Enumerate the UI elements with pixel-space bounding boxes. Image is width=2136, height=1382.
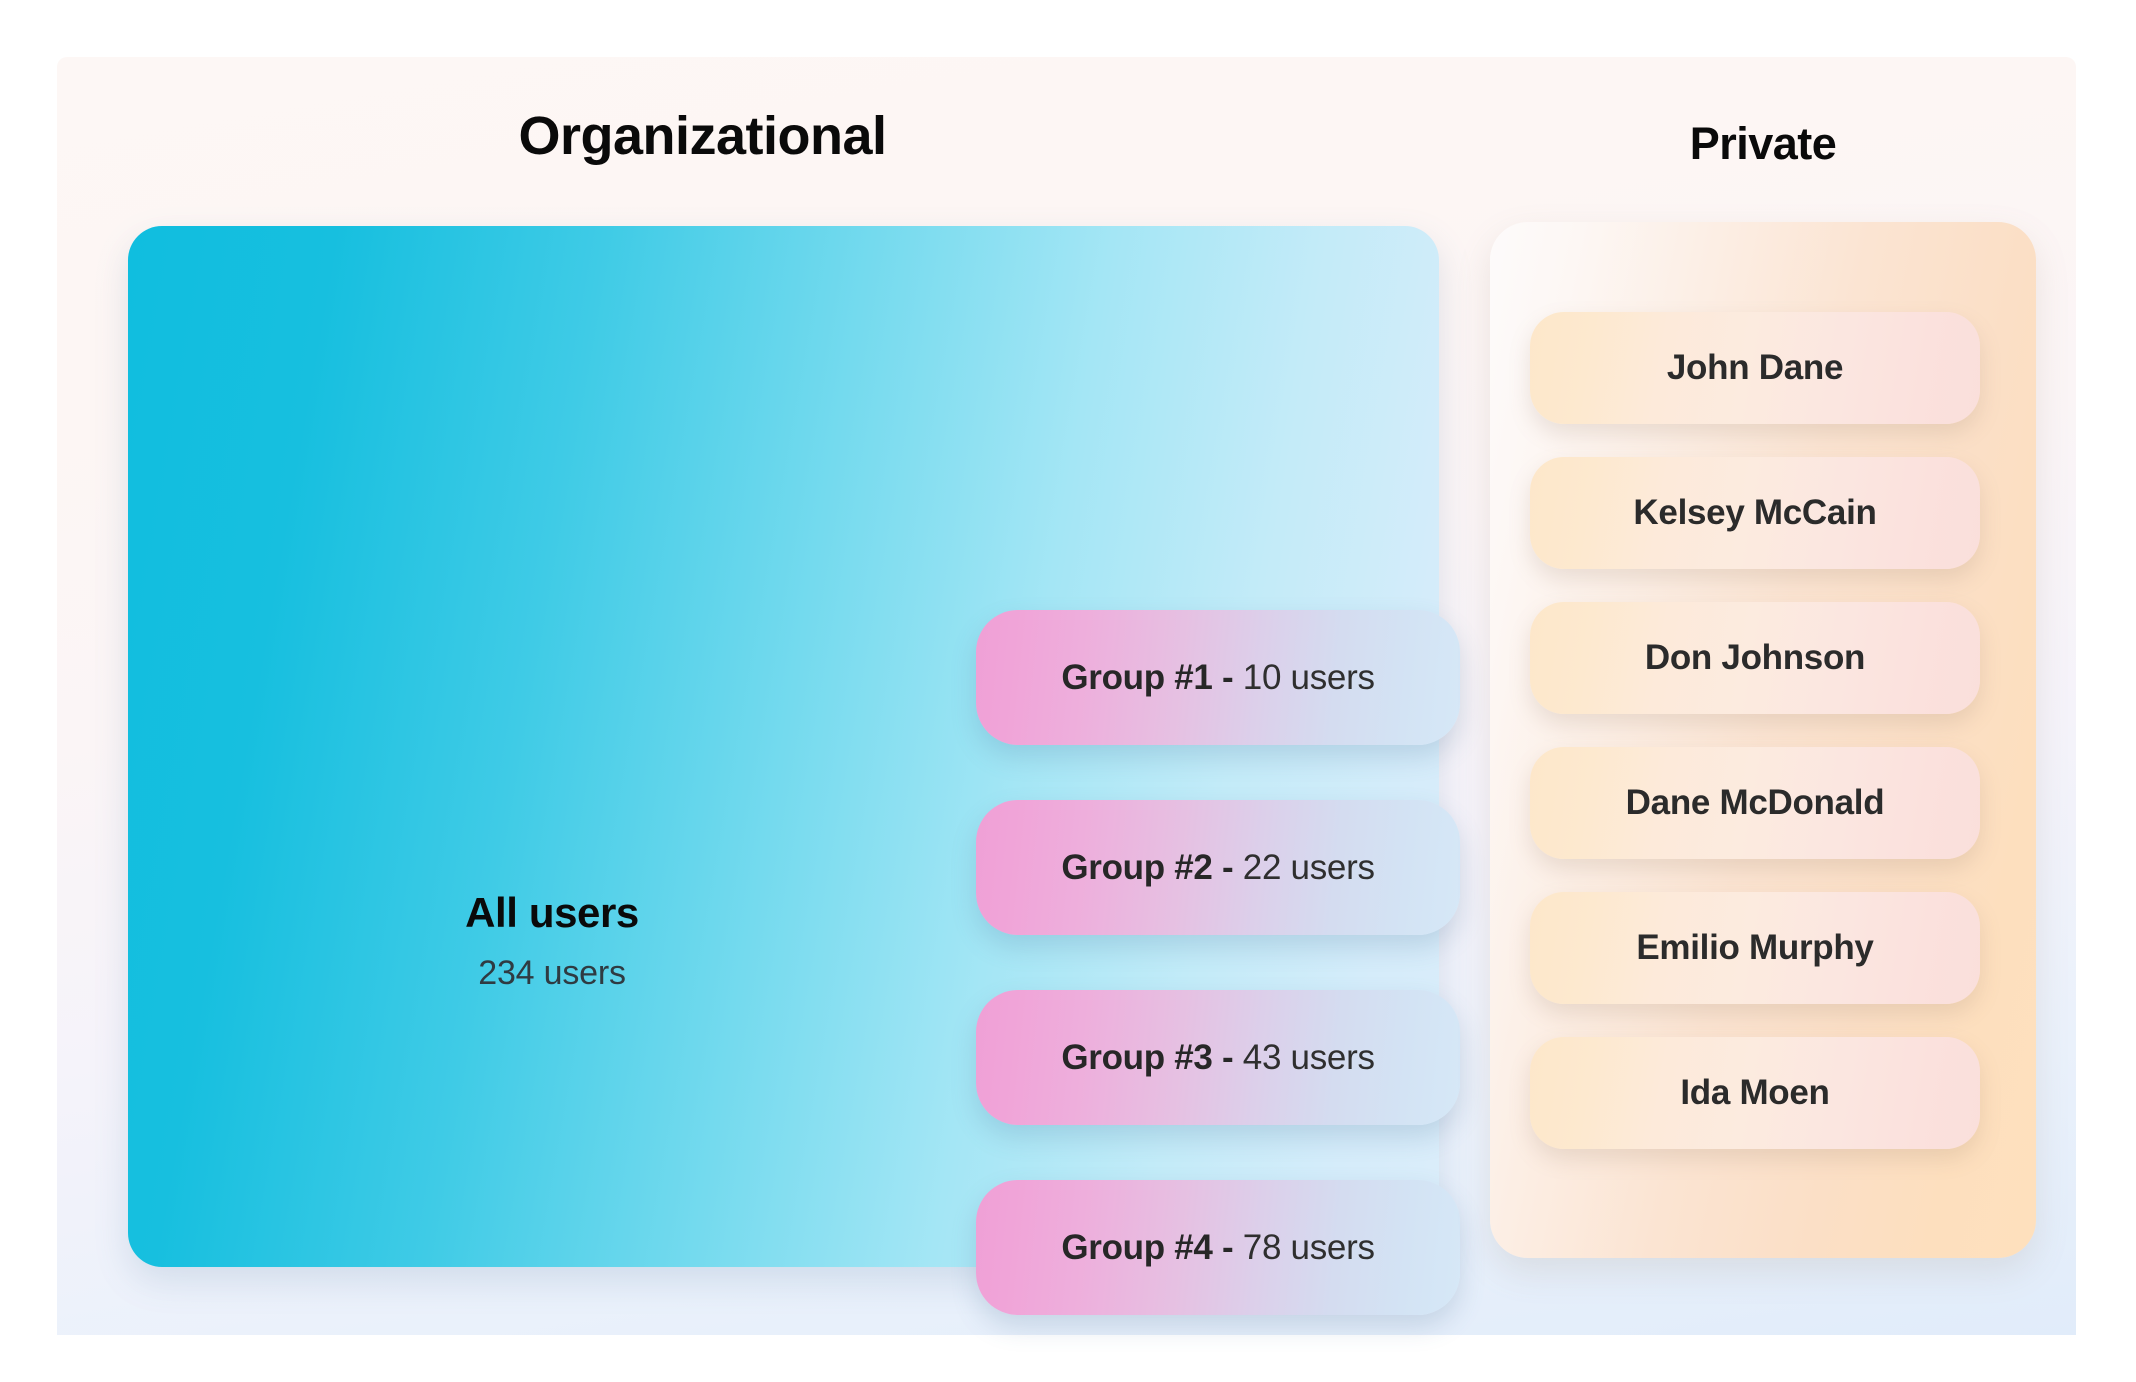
group-label: Group #1 - 10 users [1061, 658, 1374, 698]
all-users-block: All users 234 users [128, 890, 976, 993]
group-label: Group #2 - 22 users [1061, 848, 1374, 888]
group-count: 43 users [1233, 1038, 1374, 1077]
private-heading: Private [1490, 118, 2036, 170]
group-pill[interactable]: Group #3 - 43 users [976, 990, 1460, 1125]
group-name: Group #4 - [1061, 1228, 1233, 1267]
person-name: Kelsey McCain [1633, 493, 1876, 533]
group-list: Group #1 - 10 users Group #2 - 22 users … [976, 610, 1460, 1315]
person-pill[interactable]: Dane McDonald [1530, 747, 1980, 859]
person-name: Ida Moen [1680, 1073, 1829, 1113]
all-users-title: All users [128, 890, 976, 936]
person-name: Dane McDonald [1626, 783, 1885, 823]
group-label: Group #3 - 43 users [1061, 1038, 1374, 1078]
person-name: John Dane [1667, 348, 1843, 388]
organizational-heading: Organizational [0, 105, 1405, 167]
private-panel[interactable]: John Dane Kelsey McCain Don Johnson Dane… [1490, 222, 2036, 1258]
group-name: Group #2 - [1061, 848, 1233, 887]
group-label: Group #4 - 78 users [1061, 1228, 1374, 1268]
person-name: Emilio Murphy [1636, 928, 1873, 968]
person-pill[interactable]: John Dane [1530, 312, 1980, 424]
organizational-panel[interactable]: All users 234 users Group #1 - 10 users … [128, 226, 1439, 1267]
group-count: 10 users [1233, 658, 1374, 697]
all-users-count: 234 users [128, 954, 976, 993]
group-pill[interactable]: Group #1 - 10 users [976, 610, 1460, 745]
group-pill[interactable]: Group #2 - 22 users [976, 800, 1460, 935]
group-pill[interactable]: Group #4 - 78 users [976, 1180, 1460, 1315]
person-pill[interactable]: Emilio Murphy [1530, 892, 1980, 1004]
person-list: John Dane Kelsey McCain Don Johnson Dane… [1530, 312, 1980, 1149]
person-name: Don Johnson [1645, 638, 1865, 678]
person-pill[interactable]: Don Johnson [1530, 602, 1980, 714]
person-pill[interactable]: Kelsey McCain [1530, 457, 1980, 569]
person-pill[interactable]: Ida Moen [1530, 1037, 1980, 1149]
group-count: 78 users [1233, 1228, 1374, 1267]
group-count: 22 users [1233, 848, 1374, 887]
group-name: Group #1 - [1061, 658, 1233, 697]
group-name: Group #3 - [1061, 1038, 1233, 1077]
illustration-stage: Organizational Private All users 234 use… [0, 0, 2136, 1382]
